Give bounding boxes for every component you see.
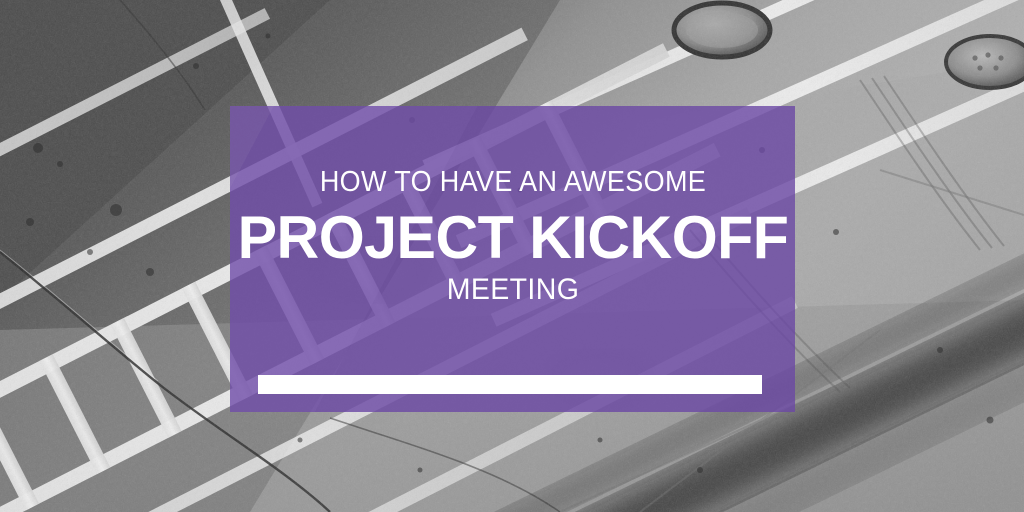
white-divider-bar bbox=[258, 375, 762, 394]
banner-image: HOW TO HAVE AN AWESOME PROJECT KICKOFF M… bbox=[0, 0, 1024, 512]
subline-text: MEETING bbox=[446, 275, 579, 305]
headline-text: PROJECT KICKOFF bbox=[237, 208, 788, 268]
card-content: HOW TO HAVE AN AWESOME PROJECT KICKOFF M… bbox=[230, 106, 795, 412]
eyebrow-text: HOW TO HAVE AN AWESOME bbox=[319, 168, 705, 197]
purple-overlay-card: HOW TO HAVE AN AWESOME PROJECT KICKOFF M… bbox=[230, 106, 795, 412]
